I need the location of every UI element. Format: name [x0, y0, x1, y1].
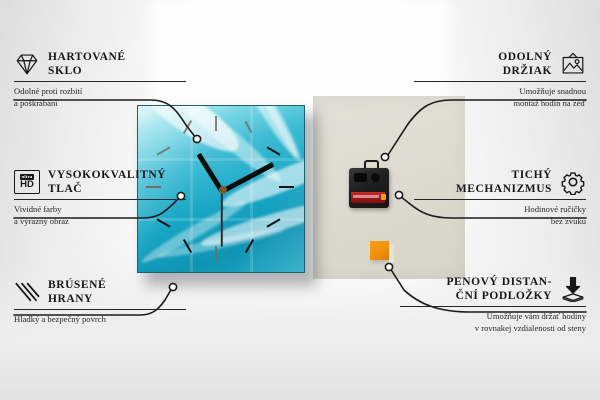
feature-divider [414, 199, 586, 200]
feature-heading-row: ODOLNÝ DRŽIAK [414, 50, 586, 78]
arrow-down-pad-icon [560, 276, 586, 302]
feature-description: Hodinové ručičky bez zvuku [414, 204, 586, 227]
feature-foam-spacers: PENOVÝ DISTAN- ČNÍ PODLOŽKY Umožňuje vám… [400, 275, 586, 334]
feature-title: VYSOKOKVALITNÝ TLAČ [48, 168, 166, 196]
ultra-hd-icon: ultra HD [14, 170, 40, 194]
feature-description: Odolné proti rozbití a poškrábání [14, 86, 186, 109]
feature-title: HARTOVANÉ SKLO [48, 50, 126, 78]
feature-silent-mechanism: TICHÝ MECHANIZMUS Hodinové ručičky bez z… [414, 168, 586, 227]
feature-description: Umožňuje snadnou montáž hodin na zeď [414, 86, 586, 109]
diamond-icon [14, 51, 40, 77]
feature-title: BRÚSENÉ HRANY [48, 278, 106, 306]
feature-heading-row: ultra HD VYSOKOKVALITNÝ TLAČ [14, 168, 186, 196]
feature-heading-row: HARTOVANÉ SKLO [14, 50, 186, 78]
feature-divider [414, 81, 586, 82]
feature-divider [14, 309, 186, 310]
feature-divider [14, 81, 186, 82]
mechanism-shaft [354, 173, 367, 182]
feature-heading-row: BRÚSENÉ HRANY [14, 278, 186, 306]
clock-tick-3 [279, 186, 294, 188]
feature-divider [400, 306, 586, 307]
feature-description: Umožňuje vám držať hodiny v rovnakej vzd… [400, 311, 586, 334]
infographic-canvas: HARTOVANÉ SKLO Odolné proti rozbití a po… [0, 0, 600, 400]
battery-label-stripe [353, 195, 379, 198]
feature-hardened-glass: HARTOVANÉ SKLO Odolné proti rozbití a po… [14, 50, 186, 109]
clock-tick-6 [215, 246, 217, 262]
clock-center-cap [219, 186, 227, 194]
picture-hanger-icon [560, 51, 586, 77]
feature-title: ODOLNÝ DRŽIAK [498, 50, 552, 78]
mechanism-adjust-knob [371, 173, 380, 182]
feature-durable-hanger: ODOLNÝ DRŽIAK Umožňuje snadnou montáž ho… [414, 50, 586, 109]
ultra-hd-icon-main-label: HD [20, 180, 34, 190]
battery-positive-tip [381, 194, 386, 200]
feature-title: PENOVÝ DISTAN- ČNÍ PODLOŽKY [446, 275, 552, 303]
feature-high-quality-print: ultra HD VYSOKOKVALITNÝ TLAČ Vividné far… [14, 168, 186, 227]
feature-description: Vividné farby a výrazný obraz [14, 204, 186, 227]
feature-polished-edges: BRÚSENÉ HRANY Hladký a bezpečný povrch [14, 278, 186, 326]
feature-heading-row: TICHÝ MECHANIZMUS [414, 168, 586, 196]
clock-second-hand [221, 191, 223, 247]
feature-description: Hladký a bezpečný povrch [14, 314, 186, 326]
diagonal-lines-icon [14, 279, 40, 305]
clock-tick-12 [215, 116, 217, 131]
foam-spacer-pad [370, 241, 389, 260]
foam-spacer-pad-side [389, 244, 394, 263]
feature-title: TICHÝ MECHANIZMUS [456, 168, 552, 196]
feature-divider [14, 199, 186, 200]
gear-icon [560, 169, 586, 195]
feature-heading-row: PENOVÝ DISTAN- ČNÍ PODLOŽKY [400, 275, 586, 303]
